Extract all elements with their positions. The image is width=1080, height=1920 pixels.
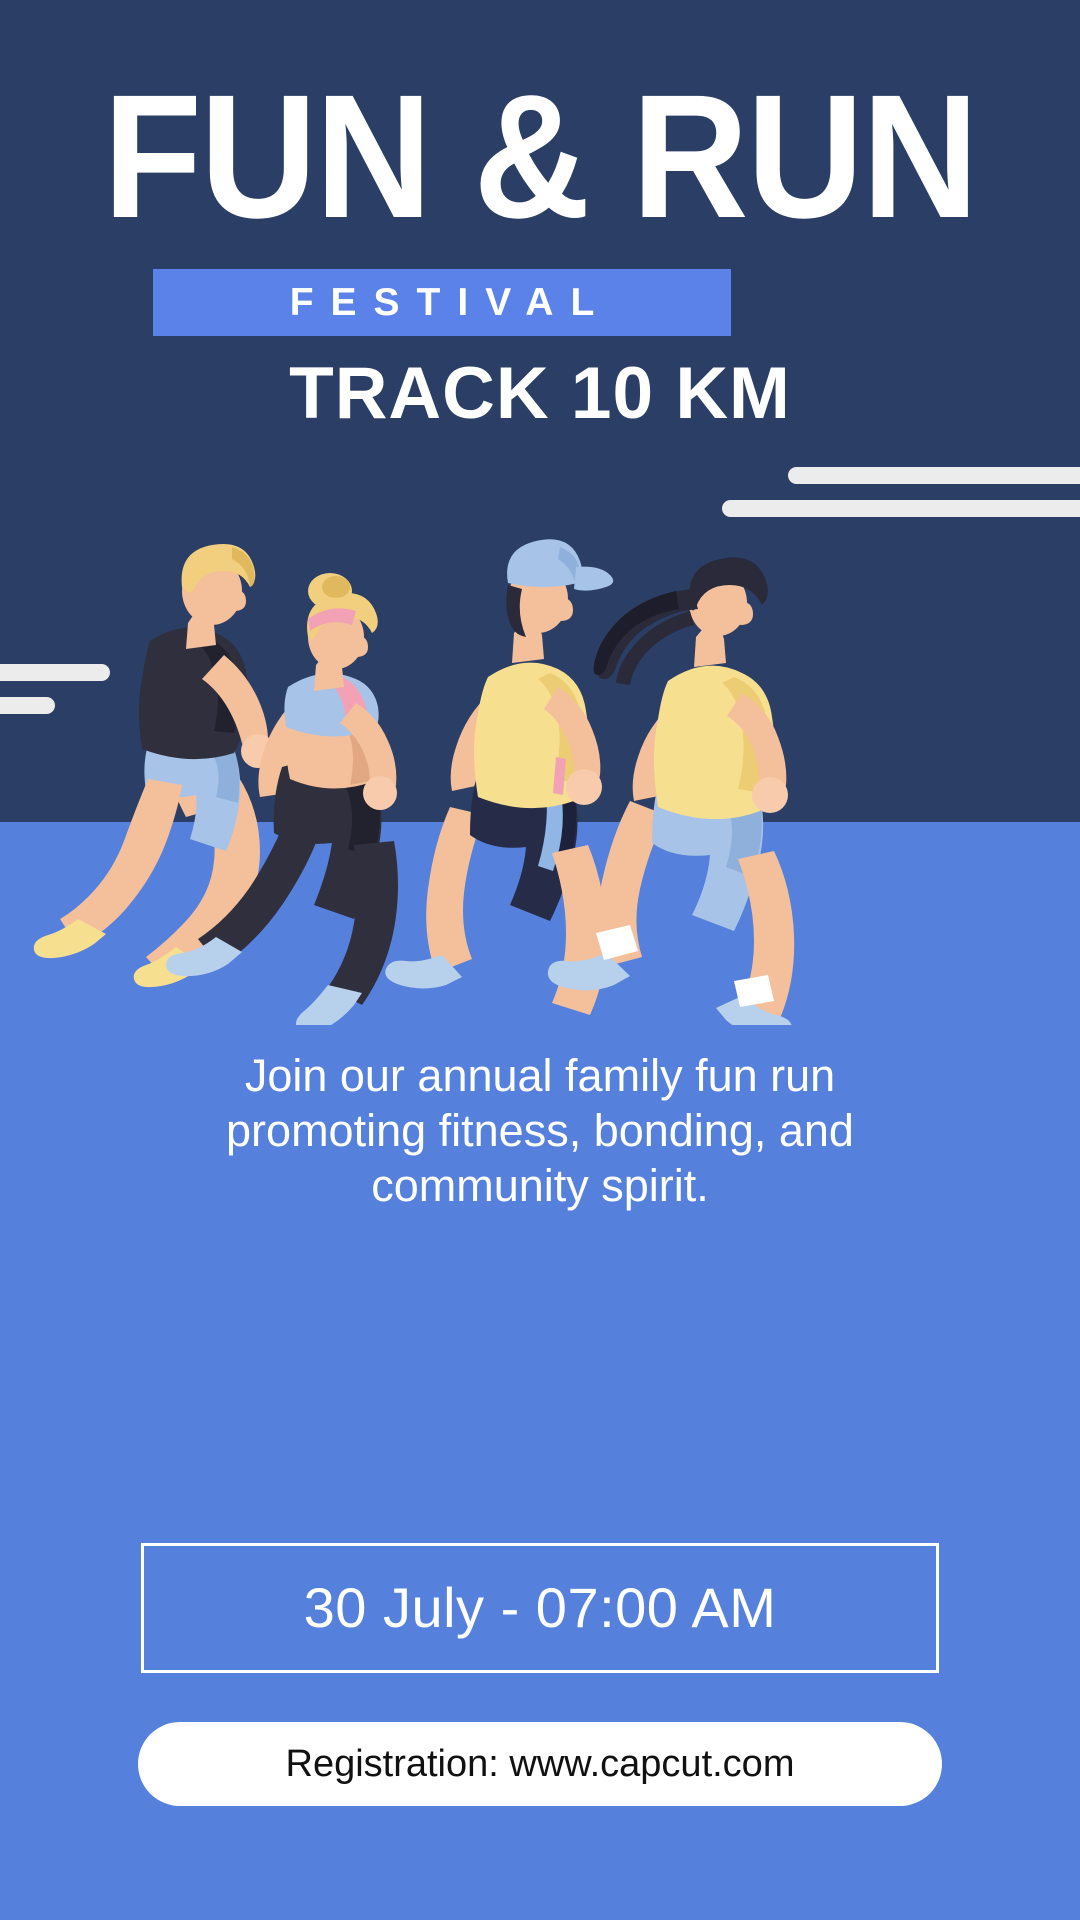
festival-band-label: FESTIVAL xyxy=(273,283,612,322)
poster-canvas: FUN & RUN FESTIVAL TRACK 10 KM .skin { f… xyxy=(0,0,1080,1920)
four-runners-illustration: .skin { fill:#f4bf9b; } .skinD { fill:#e… xyxy=(0,515,1080,1025)
speed-line-right-top-icon xyxy=(788,467,1080,484)
description-text: Join our annual family fun run promoting… xyxy=(90,1048,990,1213)
festival-band: FESTIVAL xyxy=(153,269,731,336)
registration-button[interactable]: Registration: www.capcut.com xyxy=(138,1722,942,1806)
description-line: Join our annual family fun run xyxy=(90,1048,990,1103)
event-date-time-box: 30 July - 07:00 AM xyxy=(141,1543,939,1673)
page-title: FUN & RUN xyxy=(43,78,1037,236)
track-distance-heading: TRACK 10 KM xyxy=(0,357,1080,430)
runner-3 xyxy=(385,539,613,1015)
description-line: promoting fitness, bonding, and xyxy=(90,1103,990,1158)
event-date-time-label: 30 July - 07:00 AM xyxy=(304,1580,777,1636)
registration-label: Registration: www.capcut.com xyxy=(286,1745,795,1783)
description-line: community spirit. xyxy=(90,1158,990,1213)
